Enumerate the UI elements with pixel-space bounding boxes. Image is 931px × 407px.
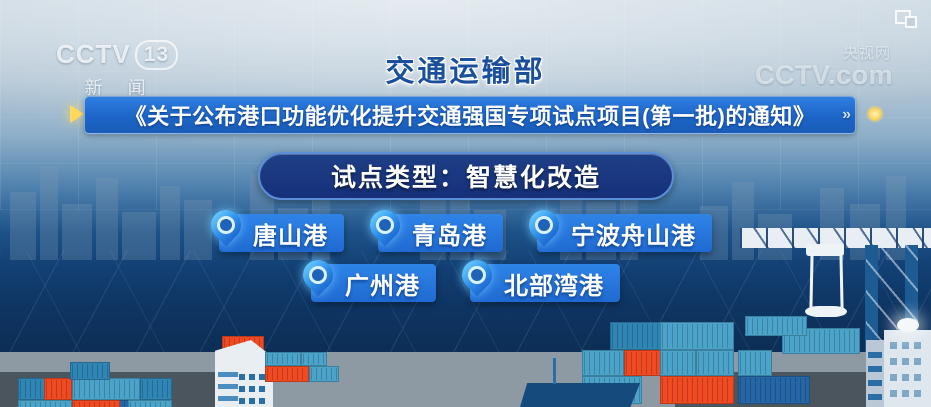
document-banner: 《关于公布港口功能优化提升交通强国专项试点项目(第一批)的通知》 » [84, 96, 856, 134]
document-title: 《关于公布港口功能优化提升交通强国专项试点项目(第一批)的通知》 [125, 99, 816, 131]
map-pin-icon [205, 204, 247, 246]
map-pin-icon [364, 204, 406, 246]
page-title: 交通运输部 [0, 48, 931, 90]
list-item[interactable]: 广州港 [311, 264, 436, 302]
list-item[interactable]: 唐山港 [219, 214, 344, 252]
terminal-building-side [866, 340, 884, 407]
list-item[interactable]: 北部湾港 [470, 264, 620, 302]
port-name: 北部湾港 [504, 266, 604, 301]
port-list: 唐山港 青岛港 宁波舟山港 广州港 北部湾港 [0, 214, 931, 314]
port-row: 广州港 北部湾港 [0, 264, 931, 302]
port-name: 宁波舟山港 [571, 216, 696, 251]
play-arrow-icon [70, 105, 84, 123]
banner-glow-dot [866, 105, 884, 123]
port-name: 广州港 [345, 266, 420, 301]
list-item[interactable]: 青岛港 [378, 214, 503, 252]
port-name: 唐山港 [253, 216, 328, 251]
boat-mast [553, 358, 556, 384]
chevron-right-icon: » [842, 106, 847, 124]
floodlight [897, 318, 919, 332]
broadcast-screen: CCTV13 新 闻 央视网 CCTV.com 交通运输部 《关于公布港口功能优… [0, 0, 931, 407]
map-pin-icon [297, 254, 339, 296]
map-pin-icon [456, 254, 498, 296]
port-row: 唐山港 青岛港 宁波舟山港 [0, 214, 931, 252]
status-badge: 试点类型：智慧化改造 [258, 152, 674, 200]
picture-in-picture-icon[interactable] [895, 10, 917, 28]
small-boat [520, 383, 640, 407]
terminal-building [884, 330, 931, 407]
map-pin-icon [523, 204, 565, 246]
list-item[interactable]: 宁波舟山港 [537, 214, 712, 252]
quay-deck [0, 352, 931, 407]
port-name: 青岛港 [412, 216, 487, 251]
quay-shadow [0, 372, 931, 407]
